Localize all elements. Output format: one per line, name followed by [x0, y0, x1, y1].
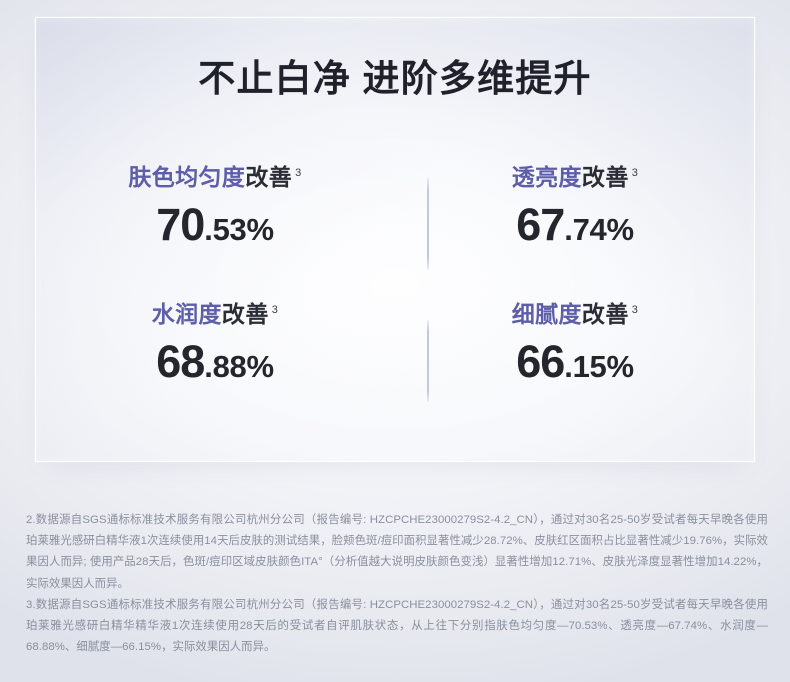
- footnote-3: 3.数据源自SGS通标标准技术服务有限公司杭州分公司（报告编号: HZCPCHE…: [26, 595, 768, 659]
- metric-value: 66.15%: [516, 339, 634, 384]
- metric-value-integer: 67: [516, 199, 564, 250]
- metric-label: 透亮度改善3: [512, 166, 639, 189]
- metric-label-suffix: 改善: [222, 301, 269, 327]
- metric-label-highlight: 肤色均匀度: [128, 164, 245, 190]
- footnotes-block: 2.数据源自SGS通标标准技术服务有限公司杭州分公司（报告编号: HZCPCHE…: [26, 510, 768, 658]
- metric-card-hydration: 水润度改善3 68.88%: [35, 290, 395, 430]
- metric-card-smoothness: 细腻度改善3 66.15%: [395, 290, 755, 430]
- footnote-marker: 3: [632, 167, 639, 179]
- metric-value: 67.74%: [516, 202, 634, 247]
- metric-value: 70.53%: [156, 202, 274, 247]
- metric-label: 肤色均匀度改善3: [128, 166, 301, 189]
- metric-label-suffix: 改善: [582, 301, 629, 327]
- footnote-2: 2.数据源自SGS通标标准技术服务有限公司杭州分公司（报告编号: HZCPCHE…: [26, 510, 768, 595]
- metric-label: 水润度改善3: [152, 303, 279, 326]
- promo-graphic: 不止白净 进阶多维提升 肤色均匀度改善3 70.53% 透亮度改善3 67.74…: [0, 0, 790, 682]
- footnote-marker: 3: [295, 167, 302, 179]
- metrics-grid: 肤色均匀度改善3 70.53% 透亮度改善3 67.74% 水润度改善3 68.…: [35, 150, 755, 430]
- metric-label-suffix: 改善: [582, 164, 629, 190]
- metric-card-skin-tone-evenness: 肤色均匀度改善3 70.53%: [35, 150, 395, 290]
- metric-label-highlight: 透亮度: [512, 164, 582, 190]
- metric-label: 细腻度改善3: [512, 303, 639, 326]
- metric-value-fraction: .88%: [204, 349, 273, 384]
- footnote-marker: 3: [272, 304, 279, 316]
- metric-value-fraction: .15%: [564, 349, 633, 384]
- metric-value-integer: 66: [516, 336, 564, 387]
- metric-value-integer: 68: [156, 336, 204, 387]
- metric-value-fraction: .74%: [564, 212, 633, 247]
- metric-label-highlight: 细腻度: [512, 301, 582, 327]
- metric-card-brightness: 透亮度改善3 67.74%: [395, 150, 755, 290]
- metric-label-highlight: 水润度: [152, 301, 222, 327]
- metric-label-suffix: 改善: [245, 164, 292, 190]
- metric-value-integer: 70: [156, 199, 204, 250]
- page-title: 不止白净 进阶多维提升: [0, 57, 790, 101]
- metric-value: 68.88%: [156, 339, 274, 384]
- footnote-marker: 3: [632, 304, 639, 316]
- metric-value-fraction: .53%: [204, 212, 273, 247]
